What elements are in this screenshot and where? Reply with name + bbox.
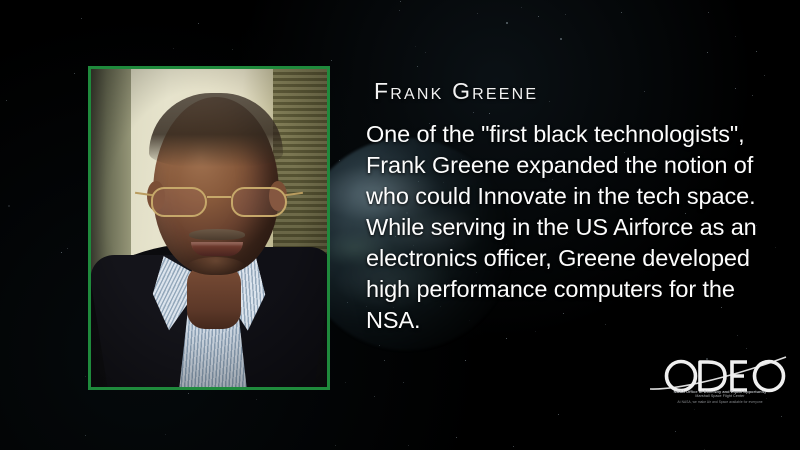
- portrait-photo: [91, 69, 327, 387]
- star-dot: [374, 396, 375, 397]
- star-dot: [565, 14, 566, 15]
- star-dot: [781, 416, 782, 417]
- odeo-subtext-line3: At NASA, we make Air and Space available…: [656, 400, 784, 405]
- star-dot: [746, 348, 747, 349]
- portrait-frame: [88, 66, 330, 390]
- biography-text: One of the "first black technologists", …: [366, 119, 786, 336]
- star-dot: [345, 382, 346, 383]
- star-dot: [675, 431, 676, 432]
- star-dot: [61, 252, 62, 253]
- star-dot: [67, 248, 68, 249]
- photo-vignette: [91, 69, 327, 387]
- star-dot: [85, 435, 86, 436]
- star-dot: [708, 12, 709, 13]
- star-dot: [764, 75, 765, 76]
- star-dot: [165, 434, 166, 435]
- star-dot: [707, 52, 708, 53]
- star-dot: [8, 205, 10, 207]
- star-dot: [506, 338, 507, 339]
- star-dot: [513, 446, 514, 447]
- odeo-logo-subtext: NASA Office of Diversity and Equal Oppor…: [656, 389, 784, 405]
- star-dot: [384, 360, 385, 361]
- star-dot: [400, 1, 401, 2]
- star-dot: [756, 51, 757, 52]
- star-dot: [335, 445, 336, 446]
- star-dot: [621, 12, 622, 13]
- star-dot: [256, 399, 257, 400]
- star-dot: [735, 36, 736, 37]
- text-column: Frank Greene One of the "first black tec…: [366, 78, 786, 336]
- star-dot: [6, 100, 7, 101]
- page-title: Frank Greene: [374, 78, 786, 105]
- star-dot: [188, 393, 189, 394]
- star-dot: [85, 376, 86, 377]
- star-dot: [538, 16, 539, 17]
- star-dot: [403, 382, 404, 383]
- star-dot: [331, 60, 332, 61]
- star-dot: [558, 414, 559, 415]
- star-dot: [456, 437, 457, 438]
- star-dot: [232, 49, 233, 50]
- star-dot: [399, 10, 400, 11]
- star-dot: [560, 38, 562, 40]
- odeo-logo: NASA Office of Diversity and Equal Oppor…: [648, 356, 790, 412]
- star-dot: [415, 46, 416, 47]
- slide-canvas: Frank Greene One of the "first black tec…: [0, 0, 800, 450]
- star-dot: [465, 360, 466, 361]
- star-dot: [198, 23, 199, 24]
- star-dot: [74, 73, 75, 74]
- star-dot: [477, 13, 478, 14]
- star-dot: [425, 52, 426, 53]
- star-dot: [81, 18, 82, 19]
- star-dot: [417, 66, 418, 67]
- star-dot: [521, 7, 522, 8]
- star-dot: [408, 445, 409, 446]
- star-dot: [506, 22, 508, 24]
- star-dot: [173, 48, 174, 49]
